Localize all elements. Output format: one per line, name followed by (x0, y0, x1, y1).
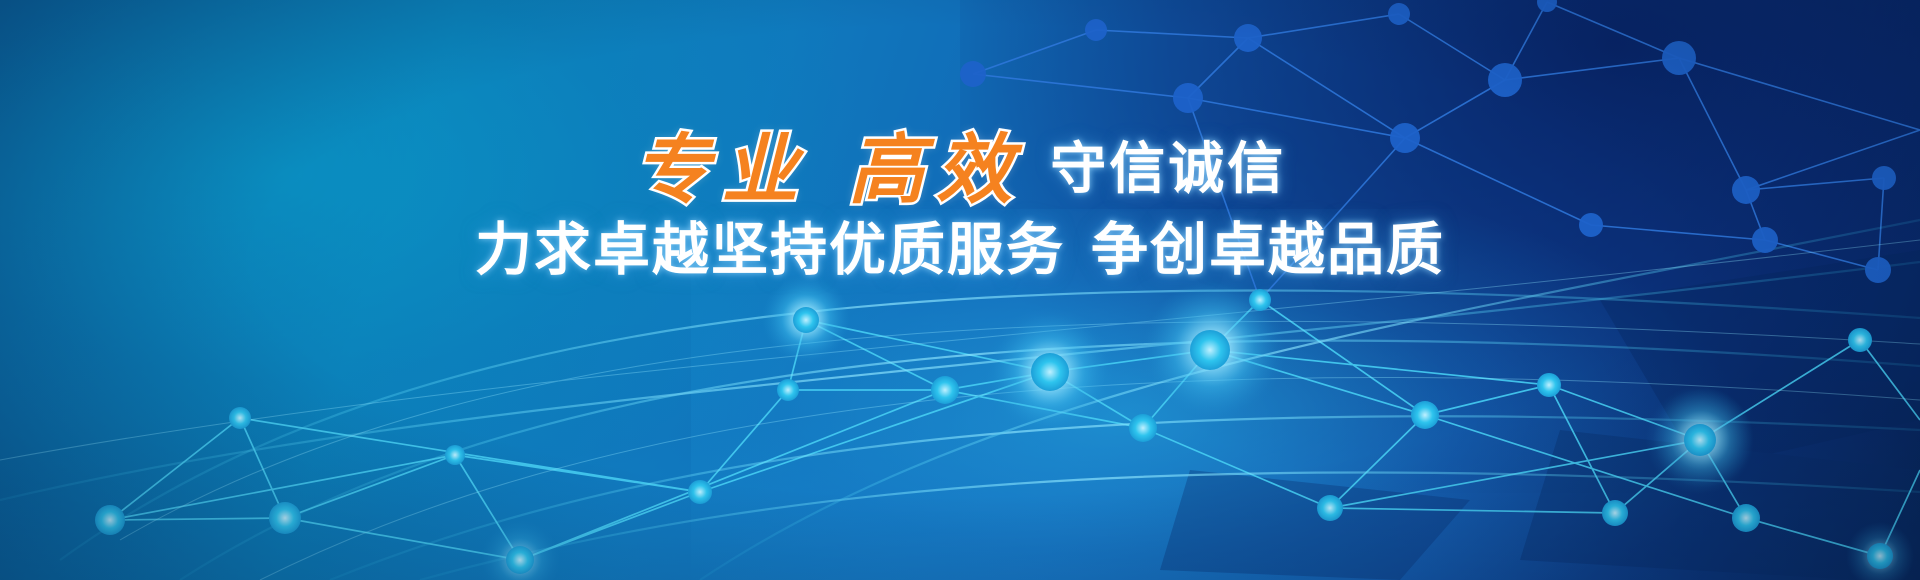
headline-line-1: 专业 高效守信诚信 (0, 132, 1920, 208)
headline-line-2: 力求卓越坚持优质服务争创卓越品质 (0, 222, 1920, 279)
headline-line-1-rest: 守信诚信 (1050, 137, 1286, 202)
headline-highlight: 专业 高效 (634, 125, 1024, 214)
headline-line-2-right: 争创卓越品质 (1091, 217, 1445, 283)
headline-block: 专业 高效守信诚信 力求卓越坚持优质服务争创卓越品质 (0, 132, 1920, 279)
background-vignette (0, 0, 1920, 580)
headline-line-2-left: 力求卓越坚持优质服务 (475, 217, 1065, 283)
promotional-banner: 专业 高效守信诚信 力求卓越坚持优质服务争创卓越品质 (0, 0, 1920, 580)
